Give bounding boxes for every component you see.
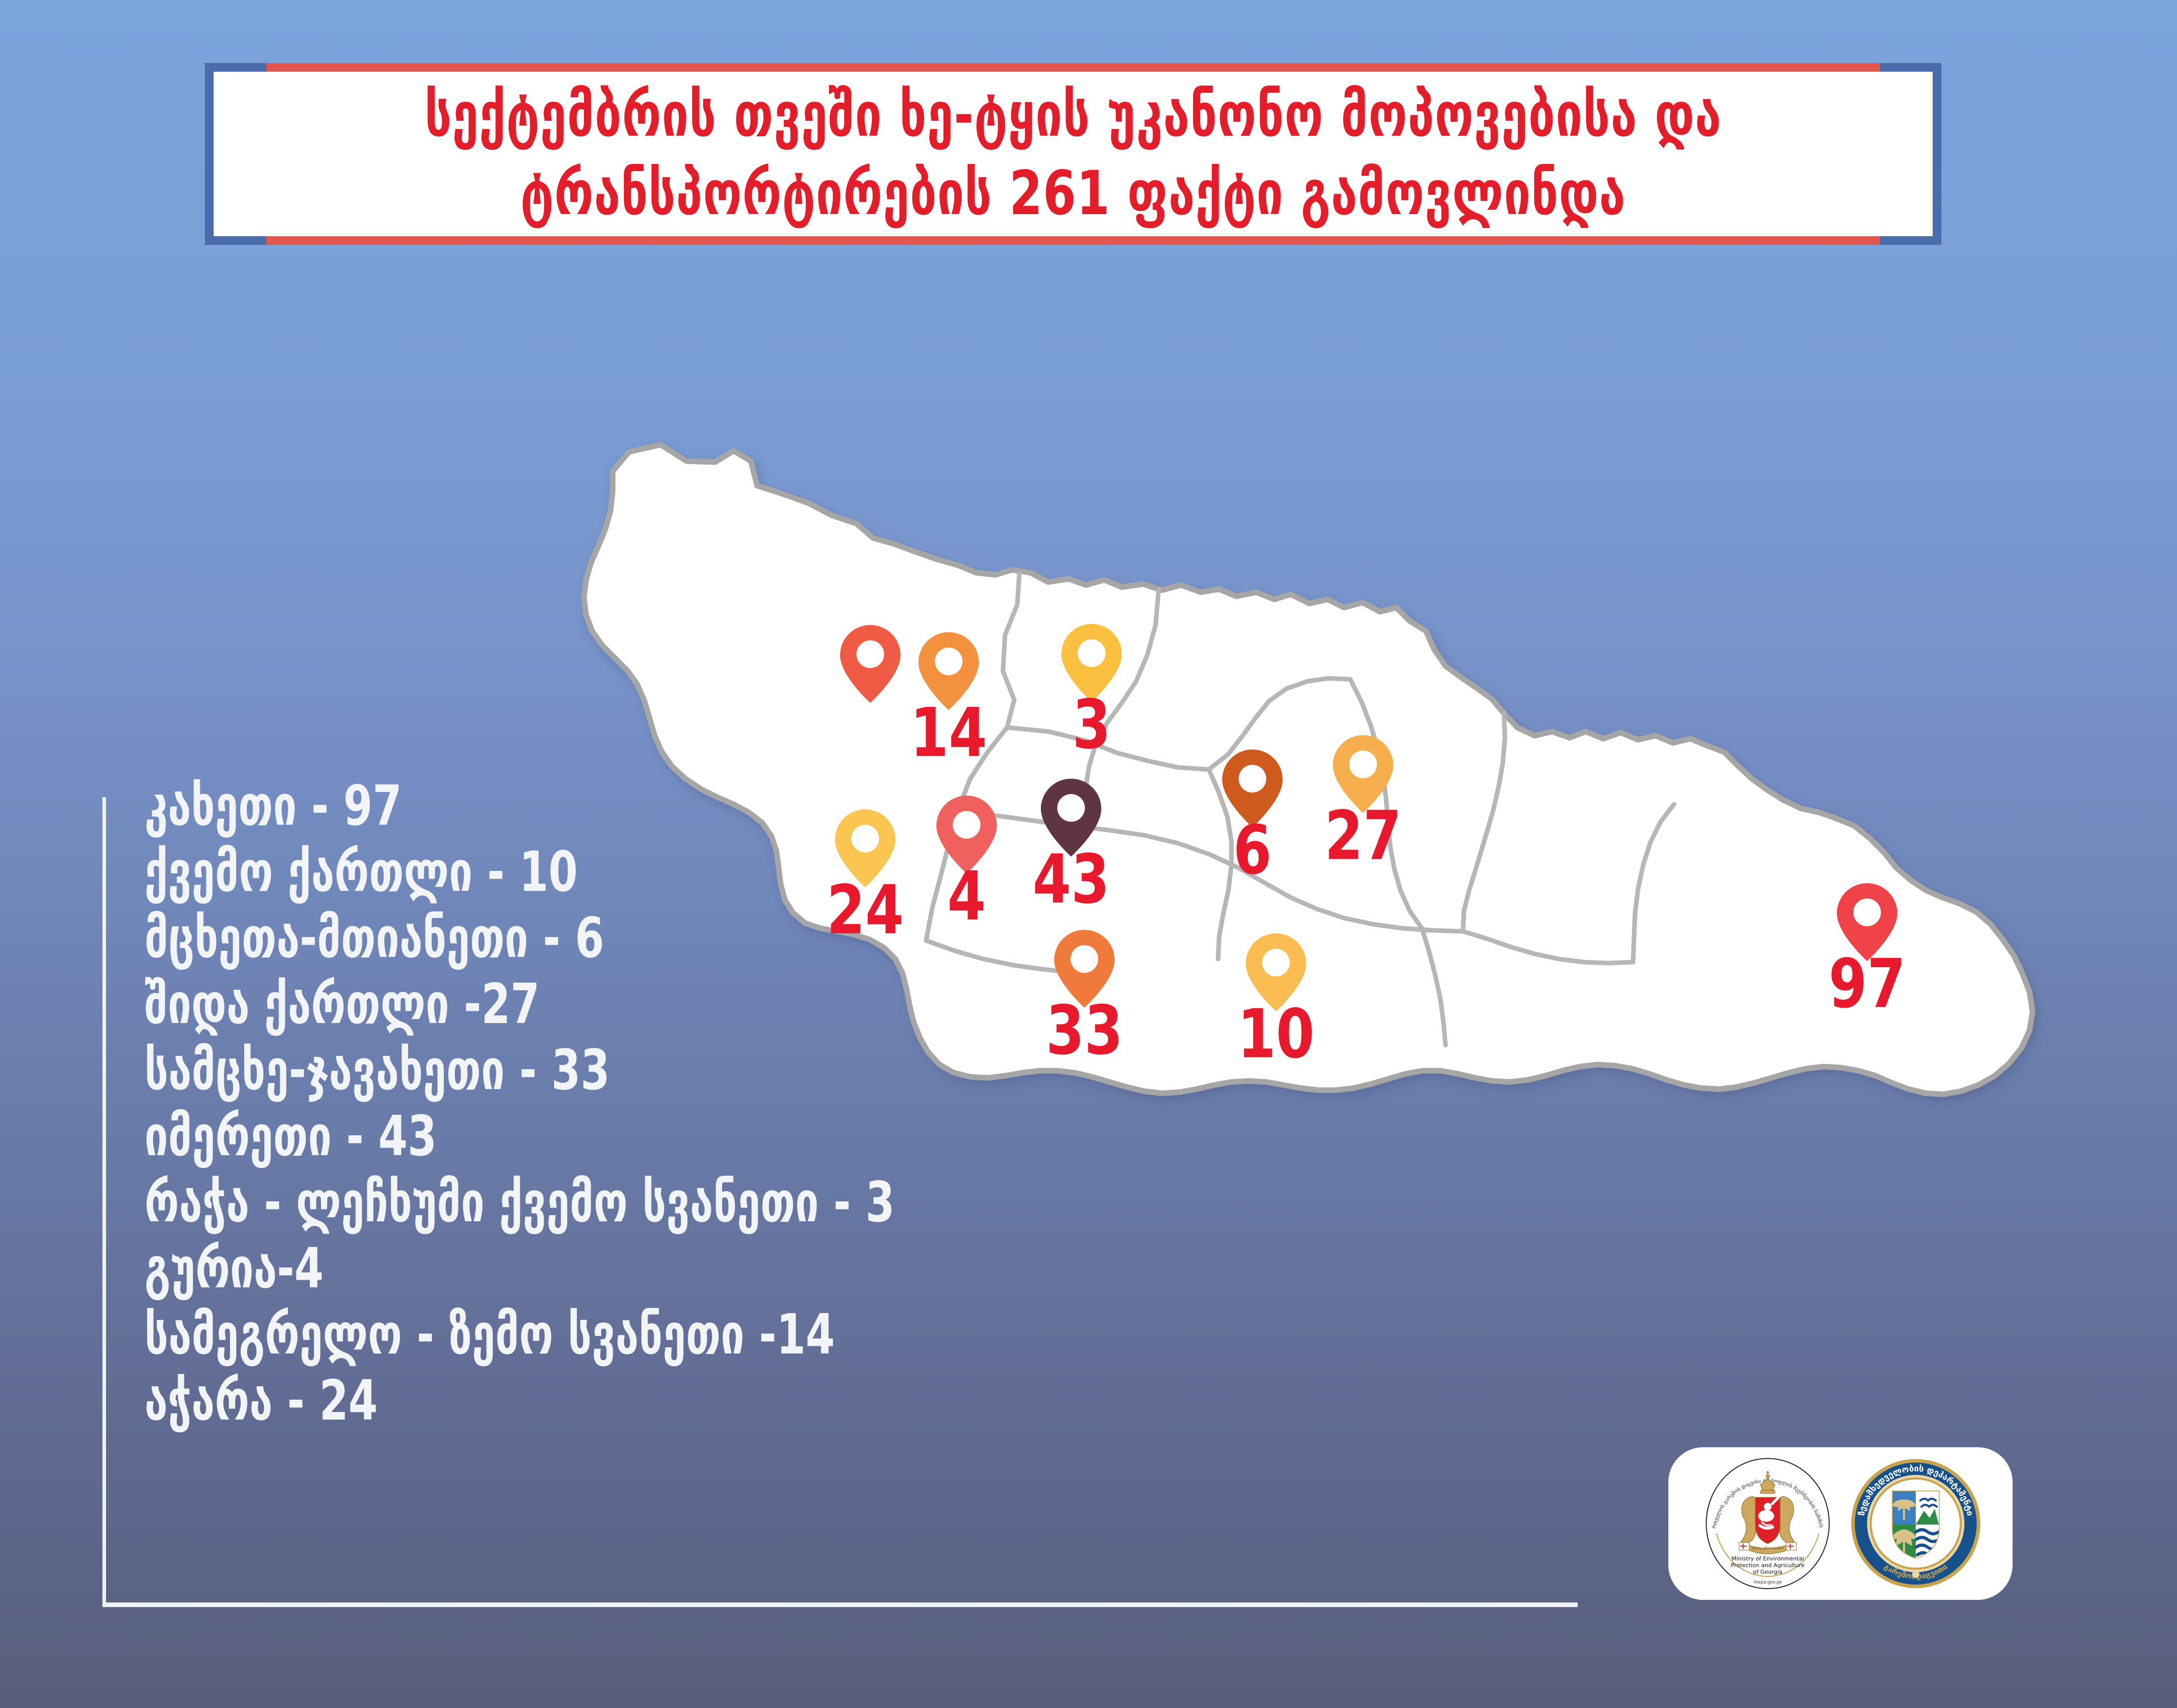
legend-row: აჭარა - 24 [144,1373,1220,1429]
map-pin-samegrelo[interactable]: 14 [918,632,979,710]
ministry-name-en-line2: Protection and Agriculture [1731,1562,1805,1569]
map-pin-count: 3 [1072,692,1111,759]
title-band-bottom [266,236,1880,245]
map-pin-mtskheta[interactable]: 6 [1222,749,1283,827]
map-pin-kakheti[interactable]: 97 [1837,883,1897,961]
map-pin-abkhazia[interactable] [840,625,901,703]
map-pin-kvemo-kartli[interactable]: 10 [1246,933,1306,1011]
ministry-website: mepa.gov.ge [1753,1580,1782,1585]
ministry-name-en-line3: of Georgia [1753,1569,1782,1575]
legend-row: სამეგრელო - ზემო სვანეთი -14 [144,1307,1220,1363]
map-pin-count: 14 [910,700,987,767]
legend-bracket-horizontal [102,1602,1578,1607]
title-banner: სექტემბრის თვეში ხე-ტყის უკანონო მოპოვებ… [205,63,1941,245]
legend-row: გურია-4 [144,1241,1220,1297]
title-corner-bottom-left [205,236,266,245]
legend-bracket-vertical [102,797,106,1607]
title-border-left [205,63,214,245]
legend-row: კახეთი - 97 [144,779,1220,834]
legend-row: მცხეთა-მთიანეთი - 6 [144,911,1220,966]
ministry-name-en-line1: Ministry of Environmental [1731,1555,1804,1562]
location-pin-icon [840,625,901,703]
page-title-line-1: სექტემბრის თვეში ხე-ტყის უკანონო მოპოვებ… [425,75,1722,155]
title-band-top [266,63,1880,72]
legend-row: ქვემო ქართლი - 10 [144,845,1220,900]
legend-row: რაჭა - ლეჩხუმი ქვემო სვანეთი - 3 [144,1175,1220,1231]
logo-card: საქართველოს გარემოს დაცვისა და სოფლის მე… [1668,1447,2013,1600]
title-corner-top-right [1880,63,1941,72]
map-pin-racha-lechkhumi[interactable]: 3 [1061,624,1122,702]
map-pin-count: 6 [1233,817,1271,885]
legend-row: შიდა ქართლი -27 [144,977,1220,1032]
title-corner-bottom-right [1880,236,1941,245]
title-border-right [1933,63,1941,245]
legend-row: იმერეთი - 43 [144,1109,1220,1164]
title-corner-top-left [205,63,266,72]
environmental-supervision-department-logo: ზედამხედველობის დეპარტამენტი გარემოსდაცვ… [1850,1457,1982,1590]
map-pin-shida-kartli[interactable]: 27 [1333,735,1393,813]
map-pin-count: 27 [1325,803,1401,870]
region-legend-list: კახეთი - 97ქვემო ქართლი - 10მცხეთა-მთიან… [144,779,1220,1440]
page-title-line-2: ტრანსპორტირების 261 ფაქტი გამოვლინდა [520,154,1626,233]
map-pin-count: 10 [1238,1001,1314,1069]
legend-row: სამცხე-ჯავახეთი - 33 [144,1043,1220,1098]
svg-text:ძალა ერთობაშია: ძალა ერთობაშია [1752,1546,1784,1550]
ministry-of-environment-logo: საქართველოს გარემოს დაცვისა და სოფლის მე… [1699,1456,1836,1591]
map-pin-count: 97 [1829,951,1906,1018]
